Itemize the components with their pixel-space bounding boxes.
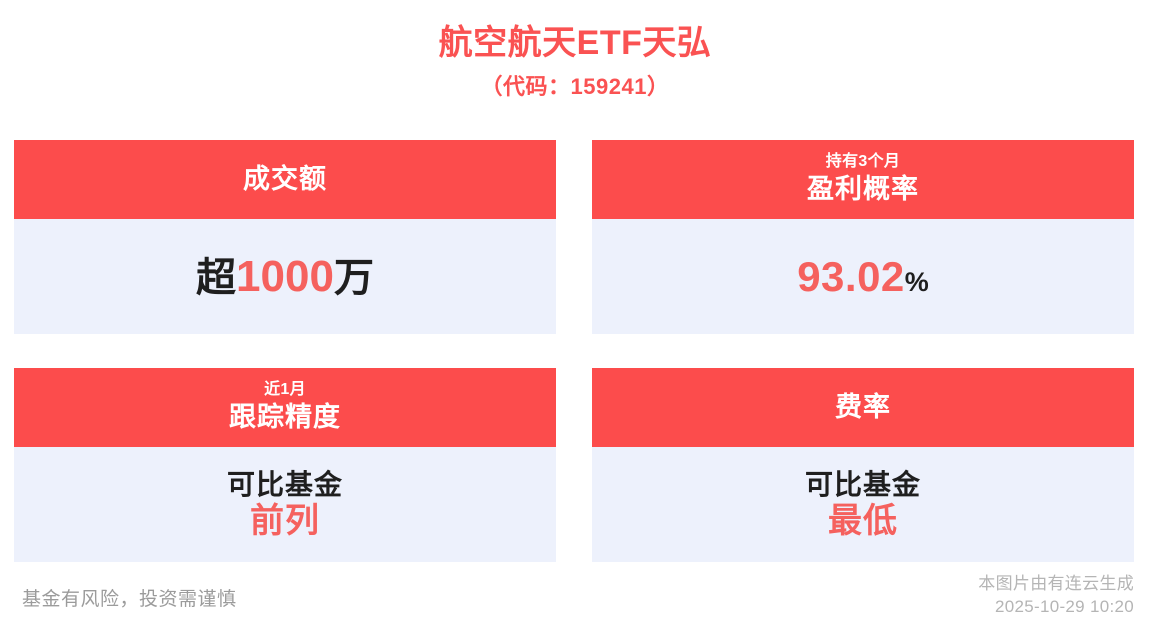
card-header-profit-probability: 持有3个月 盈利概率 — [592, 140, 1134, 219]
page-header: 航空航天ETF天弘 （代码：159241） — [0, 0, 1150, 103]
card-header-main-label: 费率 — [835, 390, 891, 425]
generation-credit: 本图片由有连云生成 2025-10-29 10:20 — [978, 573, 1134, 619]
profit-probability-number: 93.02 — [797, 253, 905, 300]
fee-rate-rank: 最低 — [828, 501, 898, 541]
fee-rate-peer-label: 可比基金 — [805, 468, 921, 501]
page-title: 航空航天ETF天弘 — [0, 22, 1150, 66]
turnover-value: 超1000万 — [196, 251, 374, 303]
stat-card-tracking-accuracy: 近1月 跟踪精度 可比基金 前列 — [14, 368, 556, 562]
card-body-profit-probability: 93.02% — [592, 219, 1134, 334]
card-body-tracking-accuracy: 可比基金 前列 — [14, 447, 556, 562]
stat-card-fee-rate: 费率 可比基金 最低 — [592, 368, 1134, 562]
card-body-fee-rate: 可比基金 最低 — [592, 447, 1134, 562]
turnover-value-number: 1000 — [236, 252, 334, 301]
card-header-turnover: 成交额 — [14, 140, 556, 219]
card-header-sub-label: 近1月 — [264, 380, 306, 400]
fund-code-subtitle: （代码：159241） — [0, 70, 1150, 103]
turnover-value-suffix: 万 — [334, 256, 374, 300]
card-header-main-label: 跟踪精度 — [229, 400, 341, 435]
tracking-accuracy-rank: 前列 — [250, 501, 320, 541]
stat-card-grid: 成交额 超1000万 持有3个月 盈利概率 93.02% 近1月 跟踪精度 可比… — [14, 140, 1134, 562]
card-header-main-label: 盈利概率 — [807, 172, 919, 207]
card-header-main-label: 成交额 — [243, 162, 327, 197]
generated-by-label: 本图片由有连云生成 — [978, 573, 1134, 596]
page-footer: 基金有风险，投资需谨慎 本图片由有连云生成 2025-10-29 10:20 — [0, 566, 1150, 632]
generated-timestamp: 2025-10-29 10:20 — [978, 596, 1134, 619]
risk-disclaimer: 基金有风险，投资需谨慎 — [22, 584, 237, 611]
card-header-sub-label: 持有3个月 — [826, 152, 900, 172]
card-header-fee-rate: 费率 — [592, 368, 1134, 447]
stat-card-turnover: 成交额 超1000万 — [14, 140, 556, 334]
turnover-value-prefix: 超 — [196, 256, 236, 300]
card-body-turnover: 超1000万 — [14, 219, 556, 334]
tracking-accuracy-peer-label: 可比基金 — [227, 468, 343, 501]
profit-probability-percent-sign: % — [905, 267, 929, 297]
profit-probability-value: 93.02% — [797, 252, 929, 302]
stat-card-profit-probability: 持有3个月 盈利概率 93.02% — [592, 140, 1134, 334]
card-header-tracking-accuracy: 近1月 跟踪精度 — [14, 368, 556, 447]
